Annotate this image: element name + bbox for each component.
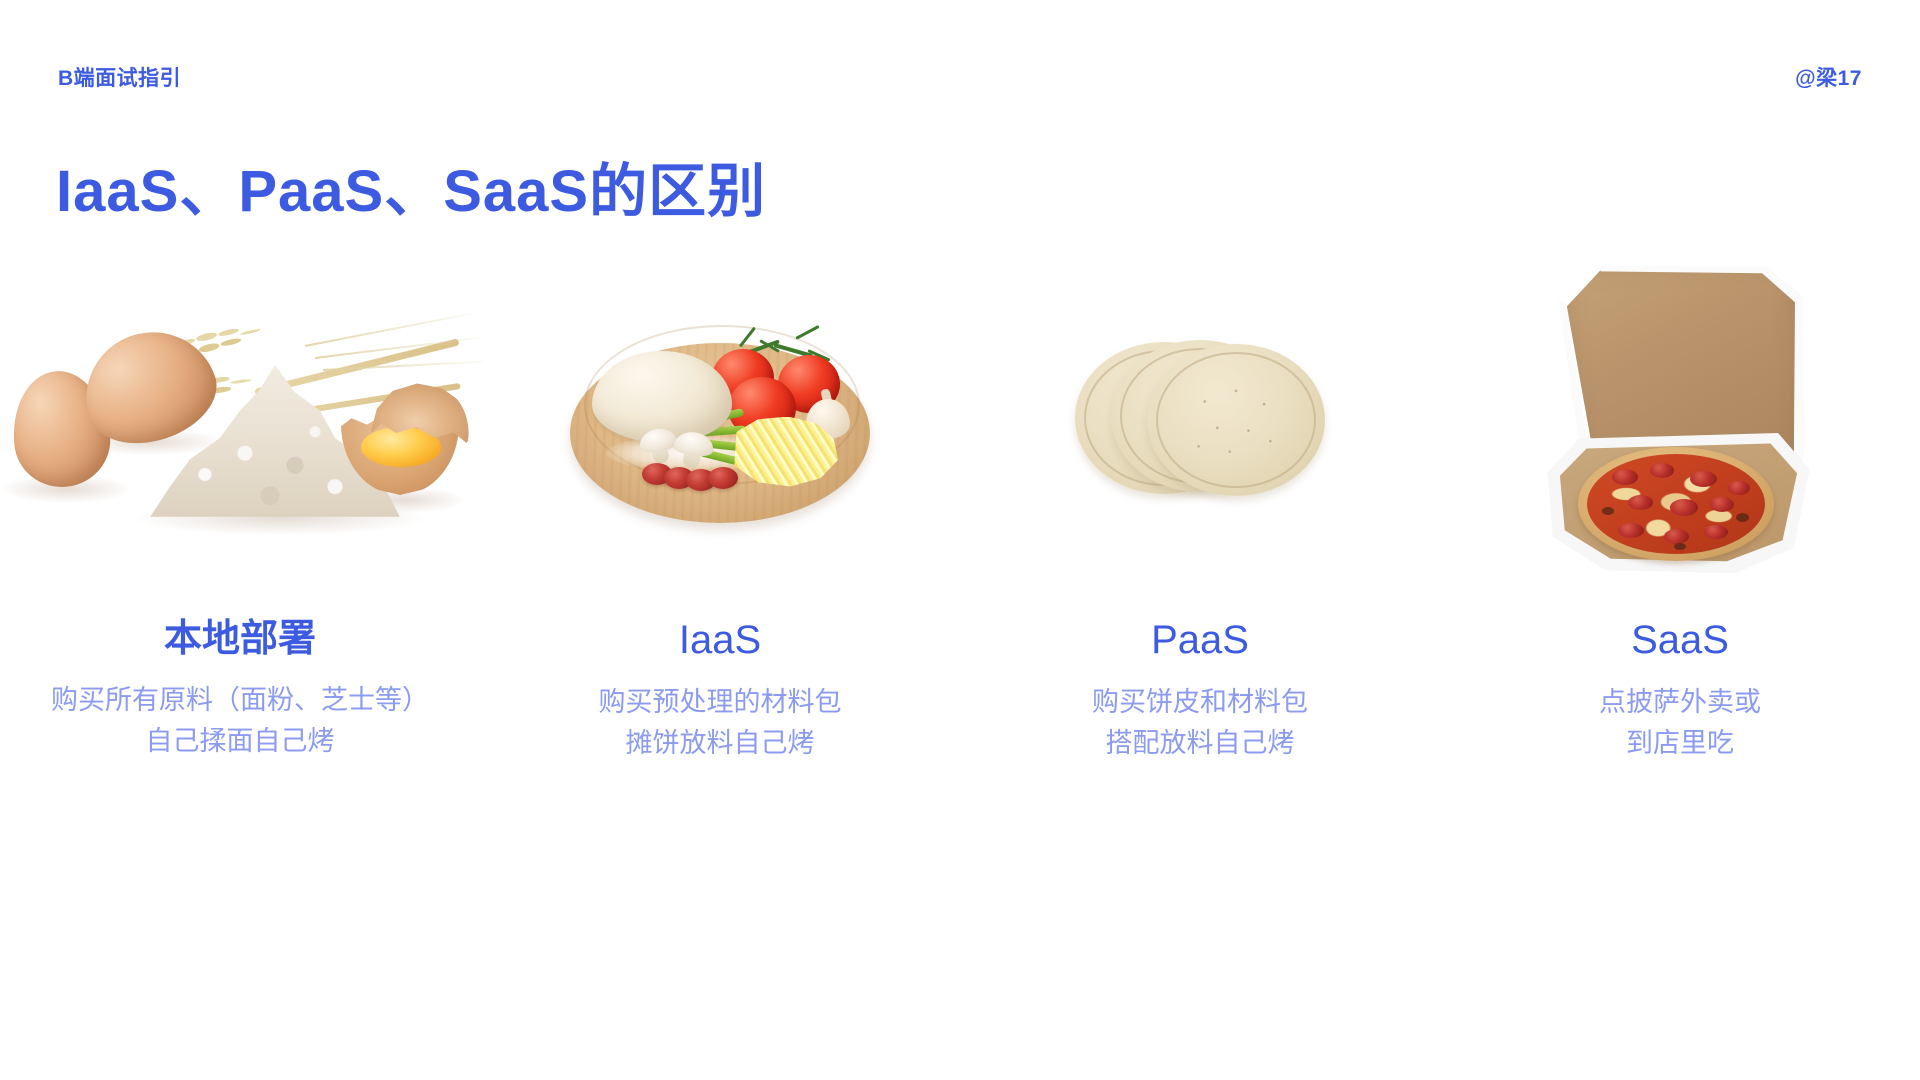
slide-header: B端面试指引 @梁17	[0, 0, 1920, 110]
column-description: 购买所有原料（面粉、芝士等） 自己揉面自己烤	[51, 680, 429, 762]
column-3-text: PaaS 购买饼皮和材料包 搭配放料自己烤	[1092, 610, 1308, 764]
pizza-bases-image	[1075, 330, 1325, 510]
column-2-text: IaaS 购买预处理的材料包 摊饼放料自己烤	[599, 610, 842, 764]
column-iaas: IaaS 购买预处理的材料包 摊饼放料自己烤	[480, 230, 960, 850]
column-saas: SaaS 点披萨外卖或 到店里吃	[1440, 230, 1920, 850]
pizza-in-box-image	[1548, 265, 1813, 575]
column-heading: PaaS	[1151, 620, 1249, 660]
pizza-ingredients-board-image	[570, 313, 870, 528]
column-description-line: 搭配放料自己烤	[1092, 723, 1308, 764]
cracked-egg-with-yolk	[335, 383, 473, 495]
author-handle-label: @梁17	[1795, 62, 1862, 92]
pizza-crust-base	[1147, 344, 1325, 496]
column-description: 购买饼皮和材料包 搭配放料自己烤	[1092, 682, 1308, 764]
column-1-text: 本地部署 购买所有原料（面粉、芝士等） 自己揉面自己烤	[51, 610, 429, 762]
page-title: IaaS、PaaS、SaaS的区别	[56, 144, 766, 228]
mushroom	[671, 429, 715, 470]
column-description: 购买预处理的材料包 摊饼放料自己烤	[599, 682, 842, 764]
pepperoni-slice	[708, 467, 738, 489]
column-description-line: 购买预处理的材料包	[599, 682, 842, 723]
column-description-line: 购买所有原料（面粉、芝士等）	[51, 680, 429, 721]
column-3-illustration-wrap	[960, 230, 1440, 610]
finished-pizza	[1578, 447, 1774, 561]
column-description-line: 摊饼放料自己烤	[599, 723, 842, 764]
column-description: 点披萨外卖或 到店里吃	[1599, 682, 1761, 764]
column-4-text: SaaS 点披萨外卖或 到店里吃	[1599, 610, 1761, 764]
column-paas: PaaS 购买饼皮和材料包 搭配放料自己烤	[960, 230, 1440, 850]
column-description-line: 点披萨外卖或	[1599, 682, 1761, 723]
column-4-illustration-wrap	[1440, 230, 1920, 610]
column-2-illustration-wrap	[480, 230, 960, 610]
header-tag-label: B端面试指引	[58, 62, 181, 92]
column-heading: 本地部署	[164, 620, 316, 658]
column-heading: SaaS	[1631, 620, 1729, 660]
column-description-line: 到店里吃	[1599, 723, 1761, 764]
column-1-illustration-wrap	[0, 230, 480, 610]
column-heading: IaaS	[679, 620, 761, 660]
column-description-line: 购买饼皮和材料包	[1092, 682, 1308, 723]
column-local-deployment: 本地部署 购买所有原料（面粉、芝士等） 自己揉面自己烤	[0, 230, 480, 850]
comparison-columns: 本地部署 购买所有原料（面粉、芝士等） 自己揉面自己烤	[0, 230, 1920, 850]
raw-ingredients-image	[5, 305, 475, 535]
column-description-line: 自己揉面自己烤	[51, 721, 429, 762]
